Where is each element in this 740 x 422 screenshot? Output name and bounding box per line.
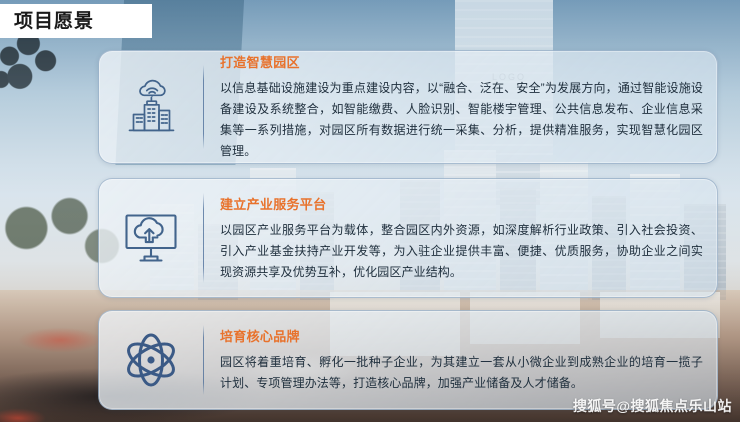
smart-building-cloud-wifi-icon <box>99 75 203 139</box>
card-body: 打造智慧园区 以信息基础设施建设为重点建设内容，以“融合、泛在、安全”为发展方向… <box>204 52 717 162</box>
card-description: 以园区产业服务平台为载体，整合园区内外资源，如深度解析行业政策、引入社会投资、引… <box>220 220 703 283</box>
page-title: 项目愿景 <box>14 12 94 31</box>
card-heading: 建立产业服务平台 <box>220 194 703 213</box>
watermark: 搜狐号@搜狐焦点乐山站 <box>573 396 732 416</box>
card-description: 以信息基础设施建设为重点建设内容，以“融合、泛在、安全”为发展方向，通过智能设施… <box>220 78 703 162</box>
card-body: 培育核心品牌 园区将着重培育、孵化一批种子企业，为其建立一套从小微企业到成熟企业… <box>204 326 717 394</box>
vision-card-industry-platform[interactable]: 建立产业服务平台 以园区产业服务平台为载体，整合园区内外资源，如深度解析行业政策… <box>98 178 718 298</box>
vision-card-smart-park[interactable]: 打造智慧园区 以信息基础设施建设为重点建设内容，以“融合、泛在、安全”为发展方向… <box>98 50 718 164</box>
card-description: 园区将着重培育、孵化一批种子企业，为其建立一套从小微企业到成熟企业的培育一揽子计… <box>220 352 703 394</box>
card-body: 建立产业服务平台 以园区产业服务平台为载体，整合园区内外资源，如深度解析行业政策… <box>204 194 717 283</box>
slide-root: LOGO 项目愿景 <box>0 0 740 422</box>
page-title-box: 项目愿景 <box>0 4 152 38</box>
monitor-cloud-upload-icon <box>99 207 203 269</box>
card-heading: 培育核心品牌 <box>220 326 703 345</box>
card-heading: 打造智慧园区 <box>220 52 703 71</box>
atom-icon <box>99 330 203 390</box>
vision-card-core-brand[interactable]: 培育核心品牌 园区将着重培育、孵化一批种子企业，为其建立一套从小微企业到成熟企业… <box>98 310 718 410</box>
